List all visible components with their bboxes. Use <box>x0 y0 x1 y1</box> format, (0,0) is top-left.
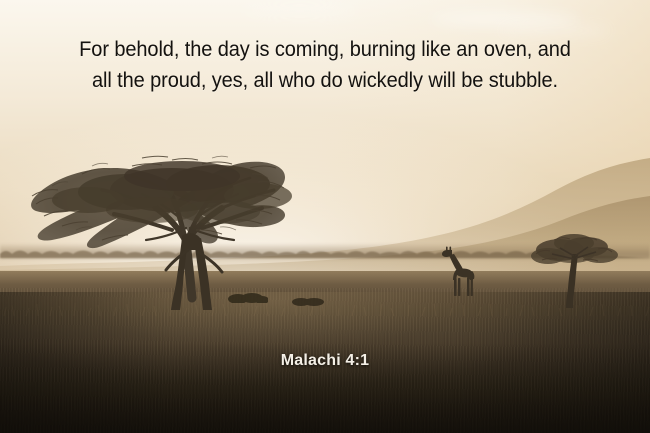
acacia-tree-small-icon <box>524 228 628 313</box>
giraffe-icon <box>440 244 480 303</box>
verse-reference: Malachi 4:1 <box>0 352 650 370</box>
shrub-icon <box>292 293 326 311</box>
cloud-wisp-icon <box>430 12 580 26</box>
shrub-icon <box>228 289 268 308</box>
verse-text: For behold, the day is coming, burning l… <box>23 34 628 96</box>
cloud-wisp-icon <box>240 6 360 16</box>
scripture-image-card: For behold, the day is coming, burning l… <box>0 0 650 433</box>
